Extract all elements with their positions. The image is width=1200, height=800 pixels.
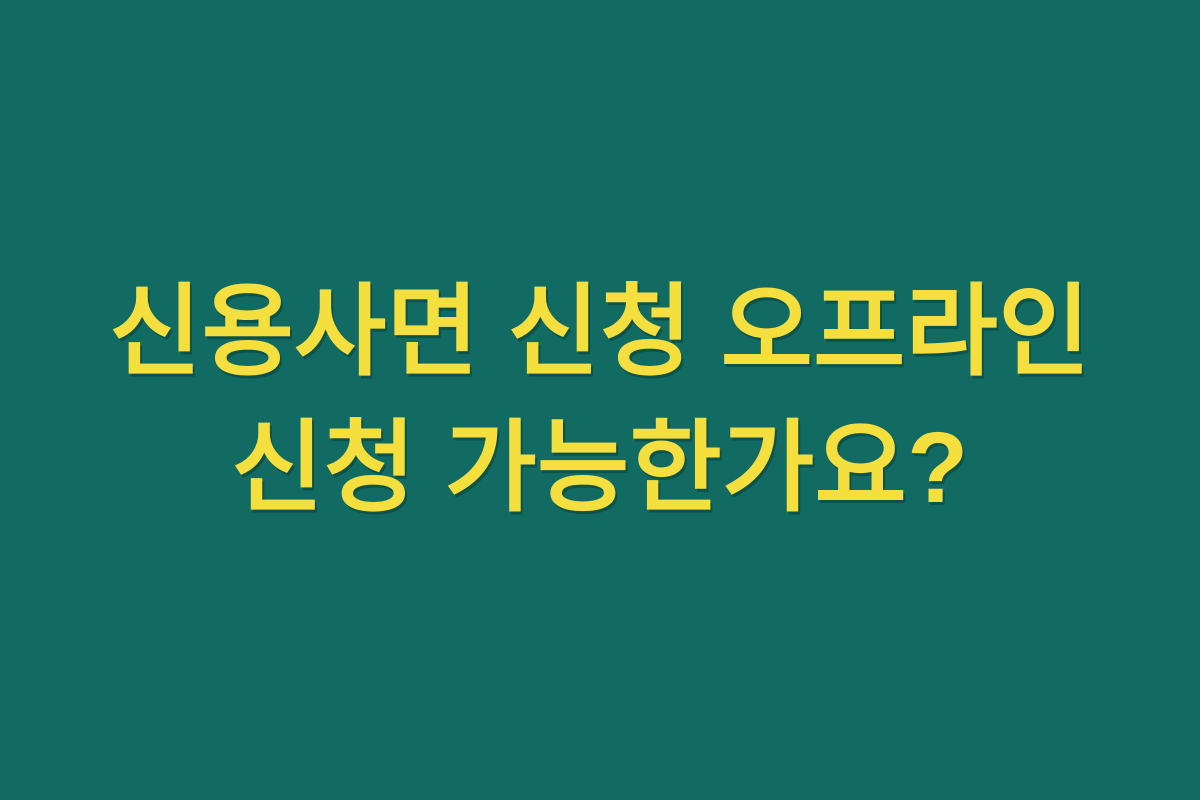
poster-canvas: 신용사면 신청 오프라인 신청 가능한가요?: [0, 0, 1200, 800]
headline-line-2: 신청 가능한가요?: [60, 400, 1140, 536]
headline-line-1: 신용사면 신청 오프라인: [60, 264, 1140, 400]
page-title: 신용사면 신청 오프라인 신청 가능한가요?: [60, 264, 1140, 536]
